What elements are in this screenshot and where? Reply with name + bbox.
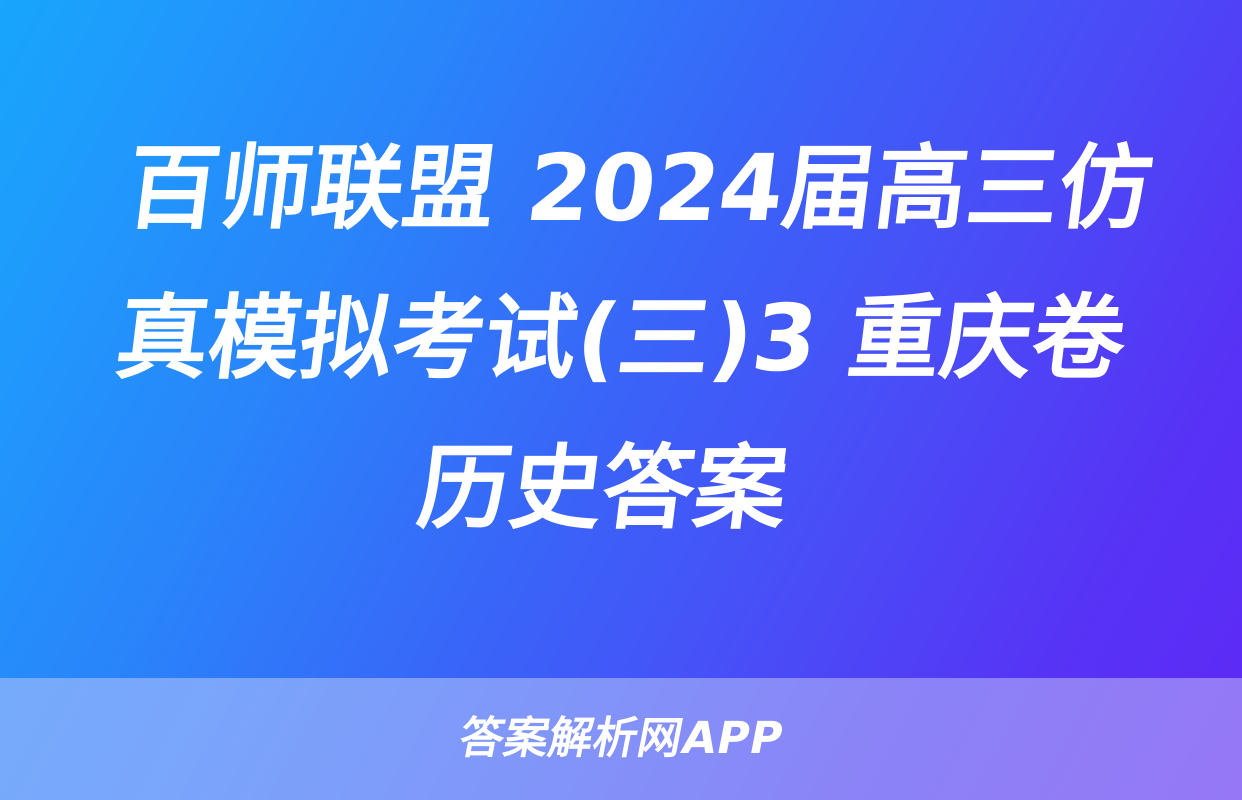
- poster-canvas: 百师联盟 2024届高三仿真模拟考试(三)3 重庆卷历史答案 答案解析网APP: [0, 0, 1242, 800]
- watermark-label: 答案解析网APP: [455, 713, 788, 765]
- page-title: 百师联盟 2024届高三仿真模拟考试(三)3 重庆卷历史答案: [33, 114, 1208, 564]
- hero-gradient-panel: 百师联盟 2024届高三仿真模拟考试(三)3 重庆卷历史答案: [0, 0, 1242, 678]
- watermark-band: 答案解析网APP: [0, 678, 1242, 800]
